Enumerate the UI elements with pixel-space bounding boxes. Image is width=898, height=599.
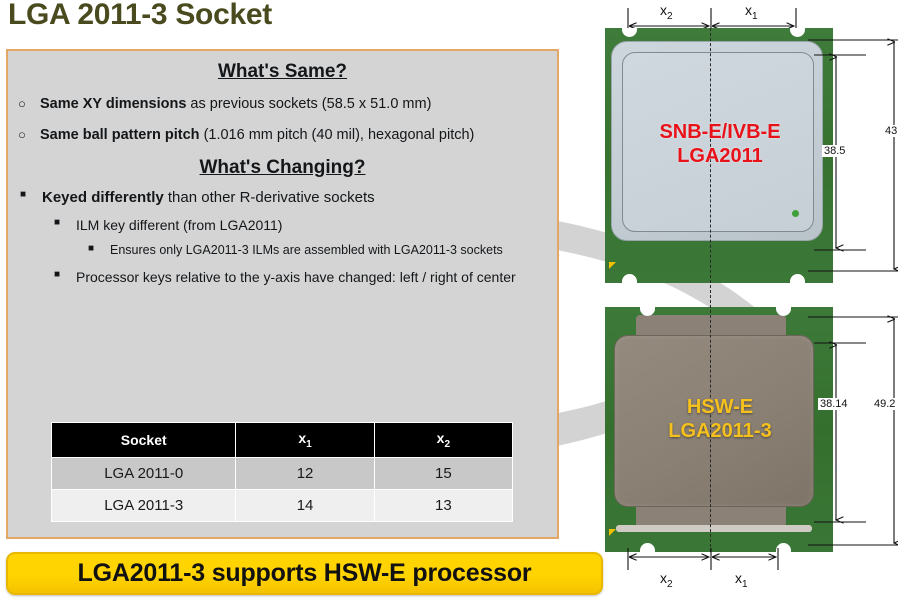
heading-whats-changing: What's Changing?: [14, 157, 551, 179]
bullet-marker-square-icon: ■: [88, 242, 110, 256]
heading-whats-same: What's Same?: [14, 61, 551, 83]
socket-top-notch-bl: [622, 274, 637, 283]
summary-banner: LGA2011-3 supports HSW-E processor: [6, 552, 603, 595]
bullet-marker-square-icon: ■: [20, 188, 42, 202]
table-row: LGA 2011-0 12 15: [52, 457, 513, 489]
bottom-key-dimension-arrows: [600, 548, 898, 574]
th-socket: Socket: [52, 423, 236, 458]
bullet-same-1-rest: as previous sockets (58.5 x 51.0 mm): [186, 96, 431, 112]
slide-canvas: om LGA 2011-3 Socket What's Same? ○ Same…: [0, 0, 898, 599]
bullet-same-2: ○ Same ball pattern pitch (1.016 mm pitc…: [14, 126, 551, 145]
th-x1: x1: [236, 423, 374, 458]
bullet-same-1-bold: Same XY dimensions: [40, 96, 186, 112]
bullet-changing-1-bold: Keyed differently: [42, 189, 164, 206]
socket-top-caption-line2: LGA2011: [600, 144, 840, 168]
th-x1-base: x: [298, 430, 306, 446]
bullet-same-1: ○ Same XY dimensions as previous sockets…: [14, 95, 551, 114]
socket-bottom-key-triangle-icon: [609, 529, 616, 536]
socket-bottom-dim-outer: 49.2: [872, 398, 897, 410]
top-label-x1: x1: [745, 2, 758, 22]
table-header-row: Socket x1 x2: [52, 423, 513, 458]
socket-bottom-caption: HSW-E LGA2011-3: [600, 395, 840, 444]
bullet-marker-square-icon: ■: [54, 268, 76, 282]
socket-top-notch-br: [790, 274, 805, 283]
socket-top-caption-line1: SNB-E/IVB-E: [600, 120, 840, 144]
socket-top-pin1-dot-icon: [792, 210, 799, 217]
top-label-x2: x2: [660, 2, 673, 22]
bullet-changing-1: ■ Keyed differently than other R-derivat…: [14, 188, 551, 208]
socket-top-caption: SNB-E/IVB-E LGA2011: [600, 120, 840, 169]
bottom-label-x2: x2: [660, 570, 673, 590]
cell-socket: LGA 2011-0: [52, 457, 236, 489]
socket-key-table: Socket x1 x2 LGA 2011-0 12 15 LGA 2011-3…: [51, 422, 513, 522]
th-x2: x2: [374, 423, 512, 458]
socket-diagram-column: x2 x1 SNB-E/IVB-E LGA2011: [600, 0, 898, 599]
bullet-changing-1-rest: than other R-derivative sockets: [164, 189, 375, 206]
bullet-same-2-bold: Same ball pattern pitch: [40, 127, 200, 143]
cell-socket: LGA 2011-3: [52, 489, 236, 521]
summary-banner-text: LGA2011-3 supports HSW-E processor: [78, 559, 532, 588]
table-row: LGA 2011-3 14 13: [52, 489, 513, 521]
socket-top-dim-outer: 43: [883, 125, 898, 137]
socket-bottom-ihs-lip: [616, 525, 812, 532]
cell-x2: 13: [374, 489, 512, 521]
bullet-changing-3-text: Ensures only LGA2011-3 ILMs are assemble…: [110, 242, 551, 259]
cell-x2: 15: [374, 457, 512, 489]
content-panel: What's Same? ○ Same XY dimensions as pre…: [6, 49, 559, 539]
bullet-marker-circle-icon: ○: [18, 95, 40, 113]
bottom-label-x1: x1: [735, 570, 748, 590]
socket-bottom-hsw-e: HSW-E LGA2011-3: [600, 307, 840, 552]
bullet-marker-circle-icon: ○: [18, 126, 40, 144]
th-x2-sub: 2: [444, 439, 450, 450]
cell-x1: 12: [236, 457, 374, 489]
socket-bottom-caption-line2: LGA2011-3: [600, 419, 840, 443]
th-x1-sub: 1: [306, 439, 312, 450]
socket-top-key-triangle-icon: [609, 262, 616, 269]
bullet-same-2-rest: (1.016 mm pitch (40 mil), hexagonal pitc…: [200, 127, 475, 143]
socket-bottom-caption-line1: HSW-E: [600, 395, 840, 419]
bullet-marker-square-icon: ■: [54, 216, 76, 230]
bullet-changing-2: ■ ILM key different (from LGA2011): [14, 216, 551, 234]
bullet-changing-3: ■ Ensures only LGA2011-3 ILMs are assemb…: [14, 242, 551, 259]
bullet-changing-4-text: Processor keys relative to the y-axis ha…: [76, 268, 551, 286]
page-title: LGA 2011-3 Socket: [8, 0, 272, 32]
bullet-changing-4: ■ Processor keys relative to the y-axis …: [14, 268, 551, 286]
cell-x1: 14: [236, 489, 374, 521]
socket-top-snb-ivb: SNB-E/IVB-E LGA2011: [600, 28, 840, 283]
bullet-changing-2-text: ILM key different (from LGA2011): [76, 216, 551, 234]
